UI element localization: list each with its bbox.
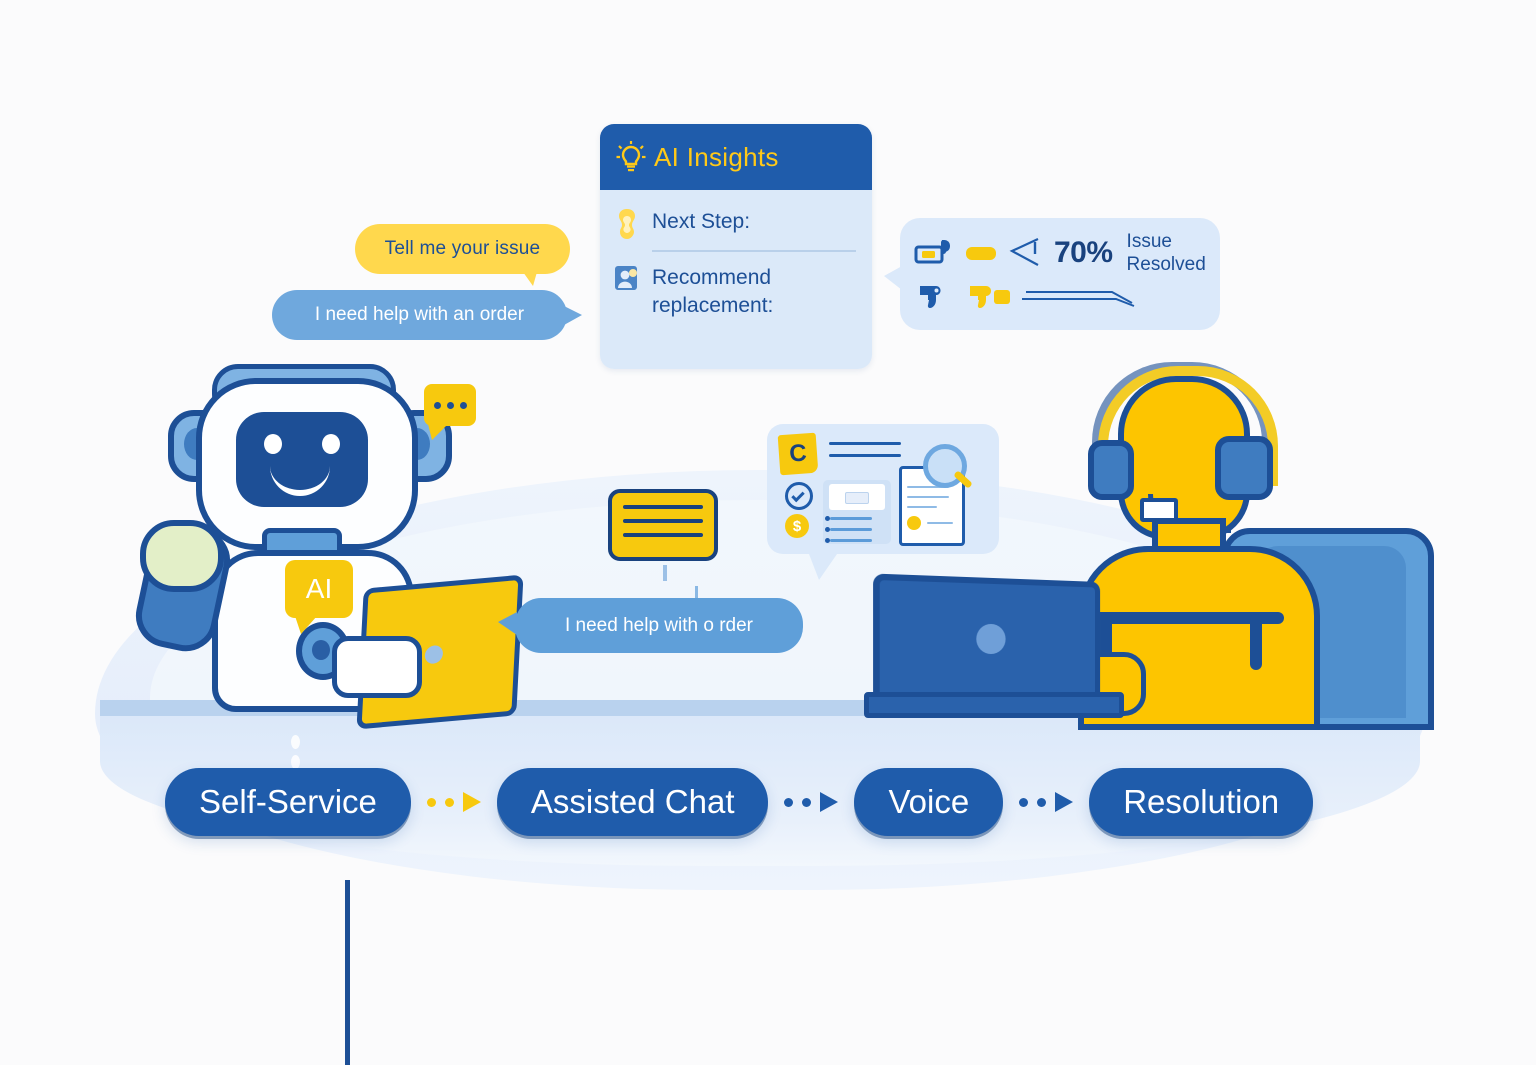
thumbs-down-icon <box>914 284 958 314</box>
resolution-percent: 70% <box>1054 236 1113 270</box>
bot-prompt-bubble: Tell me your issue <box>355 224 570 274</box>
checklist-header-box <box>845 492 869 504</box>
flow-step-label: Self-Service <box>199 783 377 821</box>
checklist-line <box>830 528 872 531</box>
flow-connector-1 <box>427 792 481 812</box>
ai-insights-body: Next Step: Recommend replacement: <box>600 190 872 369</box>
flow-step-resolution[interactable]: Resolution <box>1089 768 1313 836</box>
flow-step-voice[interactable]: Voice <box>854 768 1003 836</box>
laptop-logo <box>976 624 1005 654</box>
headset-earcup-right <box>1215 436 1273 500</box>
user-message-tail-top <box>564 306 582 325</box>
bot-shoulder-left <box>140 520 224 592</box>
category-tag-label: C <box>788 439 807 468</box>
resolution-stats-bottom-row <box>914 284 1206 314</box>
laptop-base <box>864 692 1124 718</box>
connector-dot <box>1019 798 1028 807</box>
resolution-label: Issue Resolved <box>1127 230 1206 276</box>
bot-hand <box>332 636 422 698</box>
person-idea-icon <box>614 208 640 240</box>
check-circle-icon <box>785 482 813 510</box>
document-line <box>927 522 953 524</box>
resolution-stats-bubble: 70% Issue Resolved <box>900 218 1220 330</box>
dollar-coin-icon: $ <box>785 514 809 538</box>
user-message-bubble-top: I need help with an order <box>272 290 567 340</box>
connector-dot <box>445 798 454 807</box>
bot-eye-left <box>264 434 282 454</box>
ai-badge: AI <box>285 560 353 618</box>
ai-insight-text: replacement: <box>652 292 773 320</box>
thumbs-down-yellow-icon <box>966 284 1012 314</box>
document-line <box>907 506 937 508</box>
connector-dot <box>427 798 436 807</box>
gauge-wedge-icon <box>1004 236 1046 270</box>
flow-step-self-service[interactable]: Self-Service <box>165 768 411 836</box>
resolution-stats-tail <box>884 266 902 290</box>
desk-highlight-dot <box>291 735 300 749</box>
resolution-label-line1: Issue <box>1127 230 1206 253</box>
ai-insight-row: Recommend replacement: <box>614 264 856 320</box>
bot-face-screen <box>236 412 368 507</box>
ai-bot-character: AI <box>150 360 540 710</box>
note-line <box>623 505 703 509</box>
user-message-bubble-bottom: I need help with o rder <box>515 598 803 653</box>
bot-smile <box>270 464 330 496</box>
ai-insights-title: AI Insights <box>654 142 779 173</box>
journey-flow: Self-Service Assisted Chat Voice Resolut… <box>165 766 1365 838</box>
checklist-line <box>830 517 872 520</box>
resolution-stats-top-row: 70% Issue Resolved <box>914 230 1206 276</box>
resolution-label-line2: Resolved <box>1127 253 1206 276</box>
user-message-stem <box>695 586 698 598</box>
ai-insights-header: AI Insights <box>600 124 872 190</box>
note-line <box>623 519 703 523</box>
ai-badge-tail <box>295 616 317 634</box>
title-rule <box>829 454 901 457</box>
tablet-camera-dot <box>424 645 443 665</box>
typing-dot <box>447 402 454 409</box>
flow-step-assisted-chat[interactable]: Assisted Chat <box>497 768 769 836</box>
knowledge-base-card: C $ <box>767 424 999 554</box>
connector-dot <box>1037 798 1046 807</box>
flow-connector-2 <box>784 792 838 812</box>
document-seal <box>907 516 921 530</box>
connector-arrowhead-icon <box>463 792 481 812</box>
headset-earcup-left <box>1088 440 1134 500</box>
title-rule <box>829 442 901 445</box>
ai-insight-text: Next Step: <box>652 208 750 236</box>
ai-insight-text: Recommend <box>652 264 773 292</box>
note-card-stem <box>663 565 667 581</box>
typing-dot <box>434 402 441 409</box>
flow-step-label: Voice <box>888 783 969 821</box>
bot-stand <box>345 880 350 1065</box>
checklist-line <box>830 539 872 542</box>
ai-insights-card: AI Insights Next Step: Recommend <box>600 124 872 369</box>
document-line <box>907 496 949 498</box>
ai-insight-row: Next Step: <box>614 208 856 240</box>
illustration-canvas: AI Tell me your issue I need help with a… <box>0 0 1536 1024</box>
bot-eye-right <box>322 434 340 454</box>
typing-dot <box>460 402 467 409</box>
connector-dot <box>784 798 793 807</box>
trend-lines-icon <box>1020 286 1140 312</box>
typing-indicator-bubble <box>424 384 476 426</box>
note-line <box>623 533 703 537</box>
lightbulb-icon <box>616 140 646 174</box>
thumbs-up-outline-icon <box>914 238 958 268</box>
agent-arm-segment <box>1250 614 1262 670</box>
typing-bubble-tail <box>428 424 448 440</box>
connector-arrowhead-icon <box>820 792 838 812</box>
flow-step-label: Resolution <box>1123 783 1279 821</box>
flow-connector-3 <box>1019 792 1073 812</box>
ai-badge-label: AI <box>306 573 332 605</box>
bot-prompt-text: Tell me your issue <box>385 238 541 260</box>
user-message-text-top: I need help with an order <box>315 304 524 326</box>
bot-prompt-tail <box>523 272 537 286</box>
flow-step-label: Assisted Chat <box>531 783 735 821</box>
support-agent-character <box>1070 370 1400 710</box>
connector-dot <box>802 798 811 807</box>
contact-card-icon <box>614 264 640 294</box>
transcript-note-card <box>608 489 718 561</box>
stat-yellow-bar <box>966 247 996 260</box>
user-message-tail-bottom <box>498 612 517 635</box>
ai-insight-divider <box>652 250 856 252</box>
user-message-text-bottom: I need help with o rder <box>565 615 753 637</box>
category-tag: C <box>778 433 819 476</box>
connector-arrowhead-icon <box>1055 792 1073 812</box>
knowledge-card-tail <box>809 554 837 580</box>
